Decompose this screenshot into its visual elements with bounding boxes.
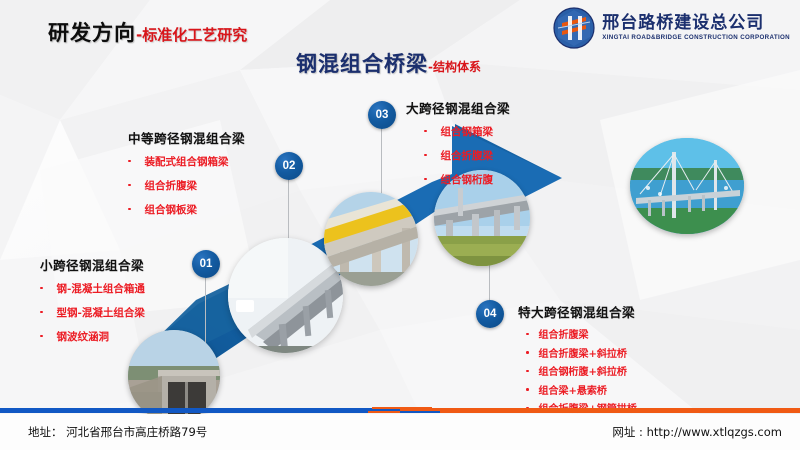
- list-item: 组合折腹梁+斜拉桥: [526, 345, 637, 360]
- bullet-dot-icon: [40, 335, 43, 338]
- company-name-cn: 邢台路桥建设总公司: [602, 15, 790, 32]
- group-04-heading: 特大跨径钢混组合梁: [518, 302, 637, 321]
- bullet-dot-icon: [128, 160, 131, 163]
- list-item: 组合钢板梁: [128, 202, 245, 217]
- company-emblem-icon: [552, 6, 596, 50]
- bullet-dot-icon: [40, 287, 43, 290]
- list-item-label: 钢-混凝土组合箱通: [57, 281, 145, 296]
- group-04-list: 组合折腹梁 组合折腹梁+斜拉桥 组合钢桁腹+斜拉桥 组合梁+悬索桥 组合折腹梁+…: [526, 326, 637, 415]
- footer-address: 地址： 河北省邢台市高庄桥路79号: [28, 424, 207, 440]
- bullet-dot-icon: [128, 184, 131, 187]
- list-item-label: 型钢-混凝土组合梁: [57, 305, 145, 320]
- list-item-label: 组合折腹梁: [539, 326, 589, 341]
- list-item: 组合折腹梁: [128, 178, 245, 193]
- group-01-heading: 小跨径钢混组合梁: [40, 255, 145, 274]
- list-item: 组合钢桁腹+斜拉桥: [526, 363, 637, 378]
- company-logo: 邢台路桥建设总公司 XINGTAI ROAD&BRIDGE CONSTRUCTI…: [552, 6, 790, 50]
- group-02-heading: 中等跨径钢混组合梁: [128, 128, 245, 147]
- list-item-label: 组合钢板梁: [145, 202, 198, 217]
- photo-circle-03: [324, 192, 418, 286]
- list-item-label: 组合钢桁腹: [441, 172, 494, 187]
- group-03-list: 组合钢箱梁 组合折腹梁 组合钢桁腹: [424, 124, 510, 187]
- badge-04[interactable]: 04: [476, 300, 504, 328]
- list-item: 组合折腹梁: [424, 148, 510, 163]
- footer: 地址： 河北省邢台市高庄桥路79号 网址 : http://www.xtlqzg…: [0, 414, 800, 450]
- footer-website[interactable]: 网址 : http://www.xtlqzgs.com: [612, 424, 782, 440]
- page-title-sub: -标准化工艺研究: [136, 26, 247, 44]
- bullet-dot-icon: [526, 370, 529, 373]
- footer-bar-orange: [400, 408, 800, 413]
- page-title: 研发方向-标准化工艺研究: [48, 17, 247, 47]
- list-item: 组合钢桁腹: [424, 172, 510, 187]
- footer-bar-dash-orange-lower: [368, 411, 402, 413]
- photo-circle-final: [630, 138, 744, 234]
- list-item-label: 组合梁+悬索桥: [539, 382, 607, 397]
- badge-03[interactable]: 03: [368, 101, 396, 129]
- page-title-main: 研发方向: [48, 21, 136, 45]
- slide-canvas: 研发方向-标准化工艺研究 钢混组合桥梁-结构体系 邢台路桥建设总公司 XINGT…: [0, 0, 800, 450]
- list-item-label: 组合钢箱梁: [441, 124, 494, 139]
- footer-bar-dash-blue: [400, 411, 440, 413]
- group-03-text: 大跨径钢混组合梁 组合钢箱梁 组合折腹梁 组合钢桁腹: [406, 98, 510, 196]
- list-item-label: 组合折腹梁+斜拉桥: [539, 345, 627, 360]
- badge-02[interactable]: 02: [275, 152, 303, 180]
- list-item-label: 组合折腹梁: [441, 148, 494, 163]
- bullet-dot-icon: [526, 388, 529, 391]
- page-subtitle-sub: -结构体系: [428, 60, 481, 74]
- group-04-text: 特大跨径钢混组合梁 组合折腹梁 组合折腹梁+斜拉桥 组合钢桁腹+斜拉桥 组合梁+…: [518, 302, 637, 419]
- footer-bar-dash-orange-upper: [372, 407, 432, 409]
- list-item: 组合折腹梁: [526, 326, 637, 341]
- bullet-dot-icon: [40, 311, 43, 314]
- page-subtitle-main: 钢混组合桥梁: [296, 52, 428, 76]
- list-item: 型钢-混凝土组合梁: [40, 305, 145, 320]
- group-01-list: 钢-混凝土组合箱通 型钢-混凝土组合梁 钢波纹涵洞: [40, 281, 145, 344]
- list-item-label: 装配式组合钢箱梁: [145, 154, 229, 169]
- list-item-label: 钢波纹涵洞: [57, 329, 110, 344]
- list-item: 钢-混凝土组合箱通: [40, 281, 145, 296]
- bullet-dot-icon: [526, 351, 529, 354]
- badge-01[interactable]: 01: [192, 250, 220, 278]
- bullet-dot-icon: [526, 333, 529, 336]
- page-subtitle: 钢混组合桥梁-结构体系: [296, 48, 481, 78]
- list-item: 组合梁+悬索桥: [526, 382, 637, 397]
- list-item: 组合钢箱梁: [424, 124, 510, 139]
- footer-divider-bars: [0, 407, 800, 414]
- bullet-dot-icon: [424, 178, 427, 181]
- company-name-en: XINGTAI ROAD&BRIDGE CONSTRUCTION CORPORA…: [602, 35, 790, 41]
- bullet-dot-icon: [424, 130, 427, 133]
- list-item-label: 组合折腹梁: [145, 178, 198, 193]
- list-item: 装配式组合钢箱梁: [128, 154, 245, 169]
- group-01-text: 小跨径钢混组合梁 钢-混凝土组合箱通 型钢-混凝土组合梁 钢波纹涵洞: [40, 255, 145, 353]
- footer-bar-blue: [0, 408, 400, 413]
- group-02-list: 装配式组合钢箱梁 组合折腹梁 组合钢板梁: [128, 154, 245, 217]
- photo-circle-02: [228, 238, 343, 353]
- group-02-text: 中等跨径钢混组合梁 装配式组合钢箱梁 组合折腹梁 组合钢板梁: [128, 128, 245, 226]
- bullet-dot-icon: [128, 208, 131, 211]
- list-item: 钢波纹涵洞: [40, 329, 145, 344]
- bullet-dot-icon: [424, 154, 427, 157]
- list-item-label: 组合钢桁腹+斜拉桥: [539, 363, 627, 378]
- group-03-heading: 大跨径钢混组合梁: [406, 98, 510, 117]
